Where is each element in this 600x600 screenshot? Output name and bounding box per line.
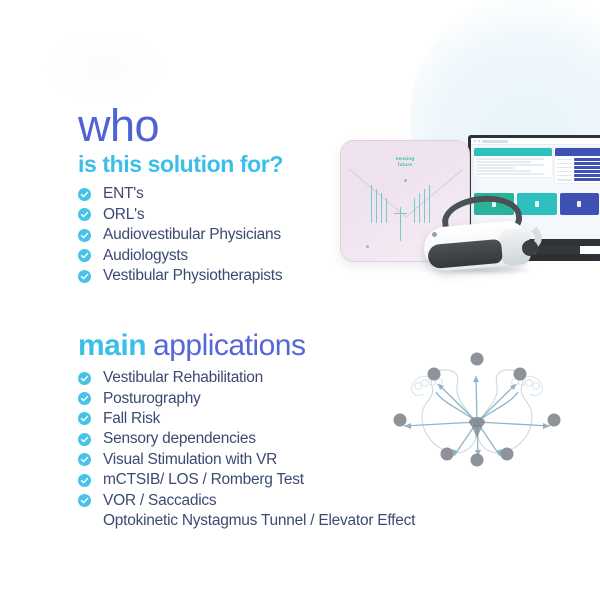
list-item: ORL's [78, 205, 283, 226]
check-circle-icon [78, 453, 91, 466]
heading-who-subtitle: is this solution for? [78, 152, 283, 176]
dashboard-column-middle [555, 148, 600, 190]
tile-glyph-icon [577, 201, 581, 207]
list-item-label: Fall Risk [103, 409, 160, 429]
list-item-label: Sensory dependencies [103, 429, 256, 449]
card-body [555, 156, 600, 183]
check-circle-icon [78, 474, 91, 487]
list-item: Audiovestibular Physicians [78, 225, 283, 246]
plate-tick [414, 198, 415, 223]
check-circle-icon [78, 229, 91, 242]
text-line [476, 158, 544, 160]
card-body [474, 156, 552, 177]
topbar-search-pill [482, 140, 508, 143]
background-blob-top-left [40, 28, 170, 108]
list-item: Visual Stimulation with VR [78, 450, 415, 470]
list-item-label: ORL's [103, 205, 144, 225]
text-line [476, 173, 544, 175]
check-circle-icon [78, 372, 91, 385]
dashboard-card [474, 148, 552, 177]
plate-tick [376, 189, 377, 223]
list-item-label: VOR / Saccadics [103, 491, 216, 511]
who-list: ENT's ORL's Audiovestibular Physicians A… [78, 184, 283, 287]
list-item: Posturography [78, 388, 415, 408]
hardware-artwork: sensing future [330, 118, 600, 293]
plate-tick [386, 198, 387, 223]
list-item-label: Audiovestibular Physicians [103, 225, 281, 245]
dashboard-card [555, 148, 600, 183]
metric-row [557, 166, 600, 169]
text-line [476, 167, 514, 169]
applications-list: Vestibular Rehabilitation Posturography … [78, 368, 415, 531]
check-circle-icon [78, 412, 91, 425]
plate-sensor [404, 179, 407, 182]
check-circle-icon [78, 494, 91, 507]
brainstem-node [469, 417, 485, 438]
plate-sensor [366, 245, 369, 248]
plate-tick [381, 193, 382, 223]
metric-row [557, 174, 600, 177]
dashboard-grid [471, 145, 600, 193]
plate-tick [371, 185, 372, 223]
list-item-label: Optokinetic Nystagmus Tunnel / Elevator … [103, 511, 415, 531]
section-who: who is this solution for? ENT's ORL's Au… [78, 104, 283, 287]
plate-center-cross [394, 213, 407, 214]
list-item: Sensory dependencies [78, 429, 415, 449]
list-item: Optokinetic Nystagmus Tunnel / Elevator … [78, 511, 415, 531]
list-item: ENT's [78, 184, 283, 205]
dashboard-column-left [474, 148, 552, 190]
list-item-label: Audiologysts [103, 246, 188, 266]
list-item-label: Vestibular Physiotherapists [103, 266, 282, 286]
cochlea-spiral-icon [512, 376, 543, 395]
text-line [476, 164, 544, 166]
check-circle-icon [78, 433, 91, 446]
metric-row [557, 158, 600, 161]
check-circle-icon [78, 188, 91, 201]
list-item-label: Posturography [103, 389, 201, 409]
section-main-applications: mainapplications Vestibular Rehabilitati… [78, 331, 415, 531]
list-item: Audiologysts [78, 246, 283, 267]
neural-pathways [404, 376, 550, 456]
metric-row [557, 178, 600, 181]
heading-light: applications [153, 329, 305, 362]
vr-camera-icon [432, 232, 437, 237]
text-line [476, 161, 531, 163]
metric-row [557, 162, 600, 165]
logo-line-1: sensing [396, 156, 415, 162]
dashboard-topbar [471, 138, 600, 145]
cochlea-spiral-icon [412, 376, 443, 395]
list-item: mCTSIB/ LOS / Romberg Test [78, 470, 415, 490]
list-item: Fall Risk [78, 409, 415, 429]
list-item: Vestibular Rehabilitation [78, 368, 415, 388]
sensing-future-logo: sensing future [396, 156, 415, 167]
list-item-label: mCTSIB/ LOS / Romberg Test [103, 470, 304, 490]
heading-main-applications: mainapplications [78, 331, 415, 361]
topbar-dot-icon [474, 140, 476, 142]
list-item-label: Visual Stimulation with VR [103, 450, 277, 470]
heading-who: who [78, 104, 283, 148]
text-line [476, 170, 531, 172]
vr-adjust-dial [522, 240, 538, 256]
card-header [474, 148, 552, 156]
vestibular-pathway-diagram [392, 352, 592, 497]
check-circle-icon [78, 249, 91, 262]
list-item-label: ENT's [103, 184, 143, 204]
action-tile [560, 193, 600, 215]
check-circle-icon [78, 208, 91, 221]
metric-row [557, 170, 600, 173]
card-header [555, 148, 600, 156]
check-circle-icon [78, 392, 91, 405]
topbar-dot-icon [478, 140, 480, 142]
check-circle-icon [78, 270, 91, 283]
poster-canvas: sensing future [0, 0, 600, 600]
vr-headset [418, 196, 546, 274]
heading-accent: main [78, 329, 146, 362]
list-item-label: Vestibular Rehabilitation [103, 368, 263, 388]
list-item: Vestibular Physiotherapists [78, 266, 283, 287]
list-item: VOR / Saccadics [78, 490, 415, 510]
